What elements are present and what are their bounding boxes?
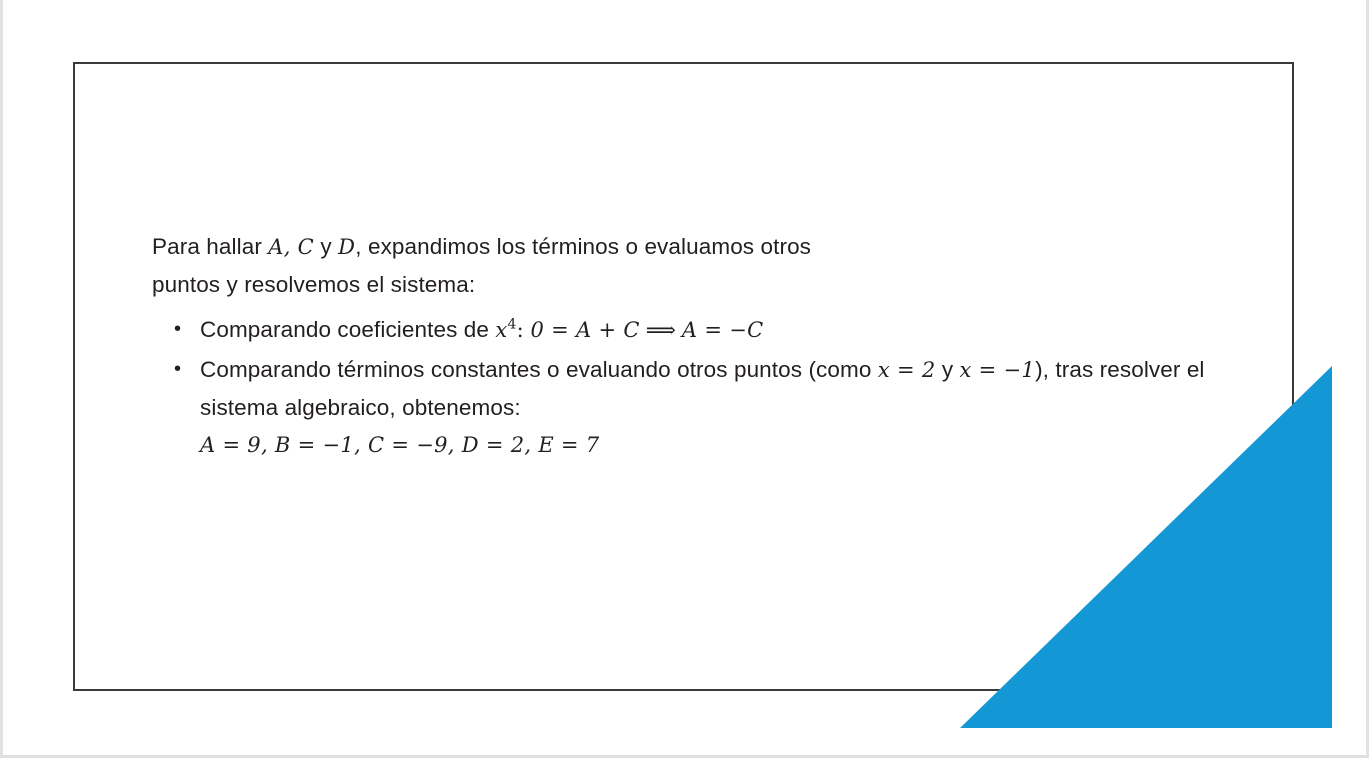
equation-left: 0 = A + C <box>531 318 640 342</box>
bullet-coefficients-text: Comparando coeficientes de <box>200 317 495 342</box>
math-colon: : <box>517 318 531 342</box>
intro-paragraph: Para hallar A, C y D, expandimos los tér… <box>152 228 852 303</box>
solution-values: A = 9, B = −1, C = −9, D = 2, E = 7 <box>200 428 1212 462</box>
bullet-item-coefficients: Comparando coeficientes de x4: 0 = A + C… <box>152 311 1212 349</box>
math-exponent-4: 4 <box>508 317 517 333</box>
page-edge-bottom <box>0 755 1369 758</box>
bullet-constants-text-before: Comparando términos constantes o evaluan… <box>200 357 878 382</box>
intro-var-last: D <box>338 235 355 259</box>
page-edge-left <box>0 0 3 758</box>
bullet-item-constants: Comparando términos constantes o evaluan… <box>152 351 1212 462</box>
slide-page: Para hallar A, C y D, expandimos los tér… <box>0 0 1369 766</box>
intro-lead: Para hallar <box>152 234 268 259</box>
intro-vars: A, C <box>268 235 314 259</box>
implies-arrow-icon: ⟹ <box>640 318 682 342</box>
intro-conjunction: y <box>314 234 338 259</box>
bullet-constants-text-middle: y <box>935 357 959 382</box>
math-variable-x: x <box>495 318 507 342</box>
eval-point-two: x = −1 <box>960 358 1036 382</box>
bullet-list: Comparando coeficientes de x4: 0 = A + C… <box>152 311 1212 462</box>
slide-body: Para hallar A, C y D, expandimos los tér… <box>152 228 1212 464</box>
bullet-coefficients-math: x4: 0 = A + C⟹A = −C <box>495 317 763 342</box>
eval-point-one: x = 2 <box>878 358 936 382</box>
equation-right: A = −C <box>682 318 764 342</box>
